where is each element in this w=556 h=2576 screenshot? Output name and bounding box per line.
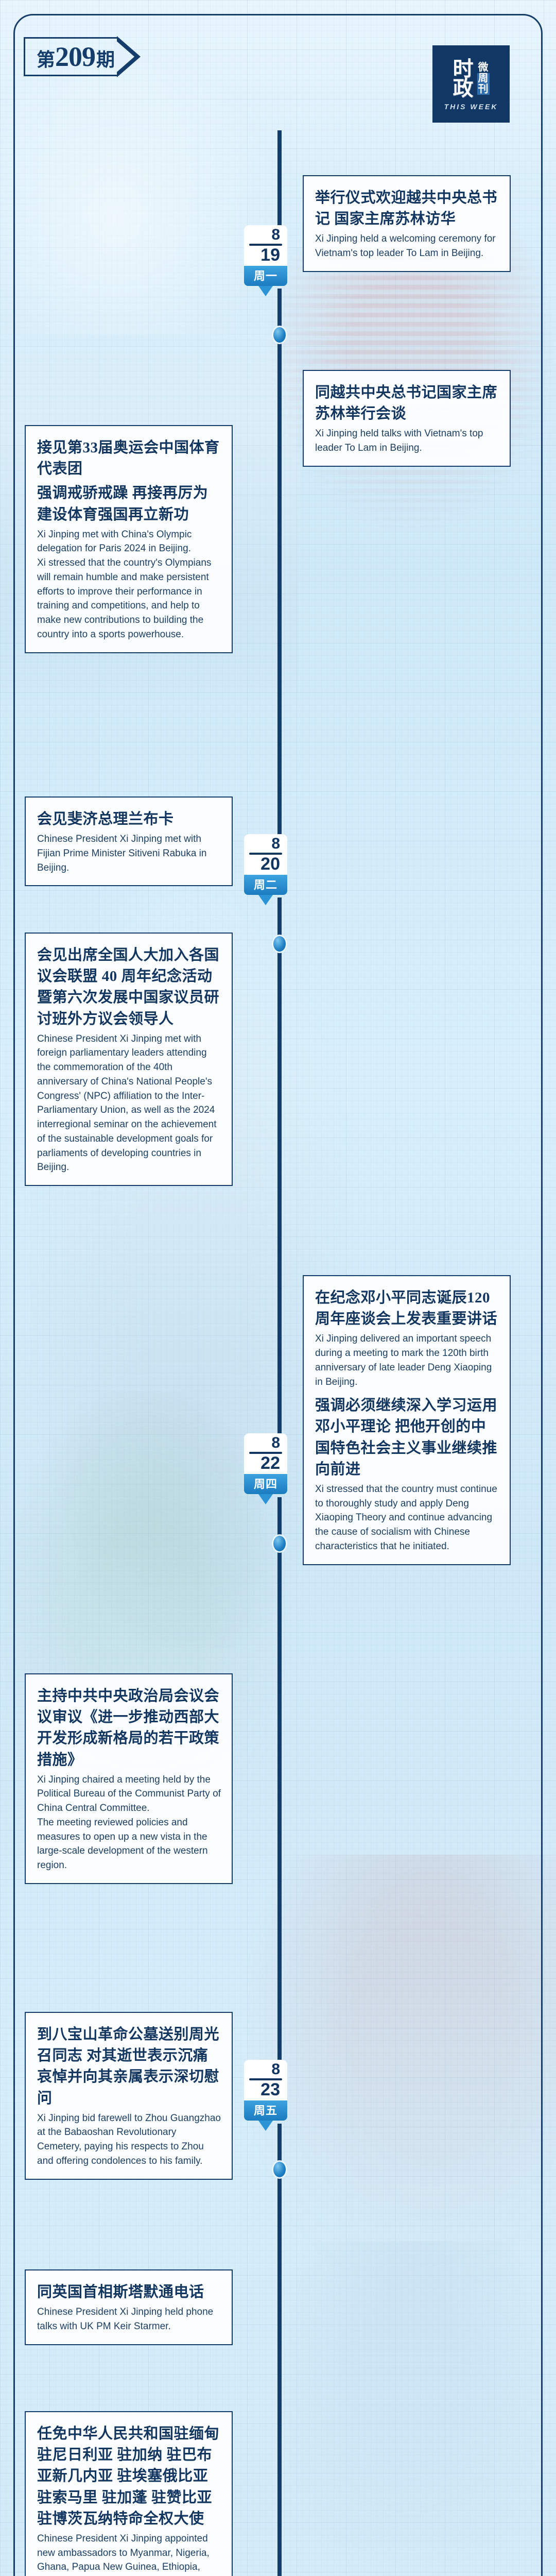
issue-badge: 第 209 期 <box>24 36 142 77</box>
news-card-body-en: Xi Jinping delivered an important speech… <box>315 1332 499 1389</box>
program-logo: 时 政 微 周 刊 THIS WEEK <box>432 45 510 123</box>
news-card-title-cn: 同英国首相斯塔默通电话 <box>37 2282 221 2303</box>
background-photo-wash-7 <box>278 2241 546 2576</box>
logo-char-zhou: 周 <box>477 73 490 84</box>
date-badge-top: 8 20 <box>244 834 287 875</box>
date-day: 23 <box>249 2081 282 2098</box>
news-card-body-en: Xi Jinping held talks with Vietnam's top… <box>315 427 499 455</box>
issue-badge-arrow-icon <box>118 36 142 77</box>
news-card-body-en: Xi Jinping held a welcoming ceremony for… <box>315 232 499 260</box>
news-card-body-en: Xi Jinping chaired a meeting held by the… <box>37 1773 221 1873</box>
date-day: 22 <box>249 1454 282 1472</box>
logo-char-kan: 刊 <box>477 84 490 95</box>
news-card[interactable]: 主持中共中央政治局会议会议审议《进一步推动西部大开发形成新格局的若干政策措施》 … <box>25 1673 233 1884</box>
logo-cn-big: 时 政 <box>453 59 474 98</box>
news-card-title-cn: 会见出席全国人大加入各国议会联盟 40 周年纪念活动暨第六次发展中国家议员研讨班… <box>37 945 221 1030</box>
news-card-body-en-2: Xi stressed that the country must contin… <box>315 1482 499 1554</box>
timeline-dot <box>272 326 287 344</box>
date-weekday: 周二 <box>244 875 287 895</box>
logo-english-label: THIS WEEK <box>444 103 498 111</box>
issue-number: 209 <box>55 43 95 71</box>
date-month: 8 <box>249 1436 282 1451</box>
news-card-title-cn-2: 强调必须继续深入学习运用邓小平理论 把他开创的中国特色社会主义事业继续推向前进 <box>315 1395 499 1480</box>
date-badge-tip-icon <box>258 895 273 905</box>
timeline-dot <box>272 935 287 953</box>
date-day: 19 <box>249 246 282 264</box>
news-card-title-cn: 接见第33届奥运会中国体育代表团 <box>37 437 221 480</box>
logo-cn-small: 微 周 刊 <box>477 62 490 95</box>
date-weekday: 周五 <box>244 2100 287 2121</box>
date-month: 8 <box>249 228 282 243</box>
timeline-segment <box>277 2124 282 2576</box>
date-badge-top: 8 23 <box>244 2060 287 2100</box>
date-badge-top: 8 19 <box>244 225 287 266</box>
date-weekday: 周一 <box>244 266 287 286</box>
news-card-title-cn: 在纪念邓小平同志诞辰120周年座谈会上发表重要讲话 <box>315 1287 499 1330</box>
news-card-body-en: Chinese President Xi Jinping met with Fi… <box>37 832 221 875</box>
news-card-body-en: Chinese President Xi Jinping met with fo… <box>37 1032 221 1175</box>
news-card-title-cn: 任免中华人民共和国驻缅甸 驻尼日利亚 驻加纳 驻巴布亚新几内亚 驻埃塞俄比亚 驻… <box>37 2424 221 2530</box>
timeline-segment <box>277 1497 282 2061</box>
news-card-body-en: Chinese President Xi Jinping appointed n… <box>37 2532 221 2576</box>
timeline-segment <box>277 130 282 226</box>
date-weekday: 周四 <box>244 1474 287 1494</box>
date-day: 20 <box>249 855 282 873</box>
news-card[interactable]: 到八宝山革命公墓送别周光召同志 对其逝世表示沉痛哀悼并向其亲属表示深切慰问 Xi… <box>25 2012 233 2180</box>
news-card-body-en: Xi Jinping bid farewell to Zhou Guangzha… <box>37 2111 221 2168</box>
logo-char-zheng: 政 <box>453 79 474 98</box>
timeline-segment <box>277 289 282 836</box>
news-card-title-cn: 会见斐济总理兰布卡 <box>37 809 221 830</box>
date-month: 8 <box>249 2062 282 2077</box>
date-badge-tip-icon <box>258 1494 273 1504</box>
issue-suffix-label: 期 <box>96 50 115 69</box>
news-card-title-cn: 主持中共中央政治局会议会议审议《进一步推动西部大开发形成新格局的若干政策措施》 <box>37 1686 221 1771</box>
news-card[interactable]: 同英国首相斯塔默通电话 Chinese President Xi Jinping… <box>25 2269 233 2345</box>
date-badge-0823: 8 23 周五 <box>244 2060 287 2131</box>
date-badge-tip-icon <box>258 2121 273 2131</box>
news-card[interactable]: 接见第33届奥运会中国体育代表团 强调戒骄戒躁 再接再厉为建设体育强国再立新功 … <box>25 425 233 653</box>
issue-prefix-label: 第 <box>37 50 55 69</box>
news-card[interactable]: 任免中华人民共和国驻缅甸 驻尼日利亚 驻加纳 驻巴布亚新几内亚 驻埃塞俄比亚 驻… <box>25 2411 233 2576</box>
logo-char-shi: 时 <box>453 59 474 79</box>
timeline-segment <box>277 897 282 1435</box>
news-card-title-cn-2: 强调戒骄戒躁 再接再厉为建设体育强国再立新功 <box>37 483 221 525</box>
date-badge-0822: 8 22 周四 <box>244 1433 287 1504</box>
date-badge-0819: 8 19 周一 <box>244 225 287 296</box>
news-card[interactable]: 会见出席全国人大加入各国议会联盟 40 周年纪念活动暨第六次发展中国家议员研讨班… <box>25 933 233 1186</box>
news-card[interactable]: 同越共中央总书记国家主席苏林举行会谈 Xi Jinping held talks… <box>303 370 511 467</box>
news-card-title-cn: 举行仪式欢迎越共中央总书记 国家主席苏林访华 <box>315 188 499 230</box>
news-card-title-cn: 同越共中央总书记国家主席苏林举行会谈 <box>315 382 499 425</box>
news-card[interactable]: 会见斐济总理兰布卡 Chinese President Xi Jinping m… <box>25 796 233 886</box>
logo-char-wei: 微 <box>478 62 489 73</box>
date-month: 8 <box>249 837 282 852</box>
news-card-title-cn: 到八宝山革命公墓送别周光召同志 对其逝世表示沉痛哀悼并向其亲属表示深切慰问 <box>37 2024 221 2109</box>
background-photo-wash-6 <box>247 1855 556 2318</box>
news-card-body-en: Chinese President Xi Jinping held phone … <box>37 2305 221 2333</box>
timeline-dot <box>272 2160 287 2179</box>
issue-badge-box: 第 209 期 <box>24 37 118 76</box>
news-card[interactable]: 举行仪式欢迎越共中央总书记 国家主席苏林访华 Xi Jinping held a… <box>303 175 511 272</box>
date-badge-tip-icon <box>258 286 273 296</box>
news-card-body-en: Xi Jinping met with China's Olympic dele… <box>37 528 221 642</box>
news-card[interactable]: 在纪念邓小平同志诞辰120周年座谈会上发表重要讲话 Xi Jinping del… <box>303 1275 511 1565</box>
logo-chinese: 时 政 微 周 刊 <box>453 59 490 98</box>
date-badge-0820: 8 20 周二 <box>244 834 287 905</box>
date-badge-top: 8 22 <box>244 1433 287 1474</box>
timeline-dot <box>272 1534 287 1553</box>
